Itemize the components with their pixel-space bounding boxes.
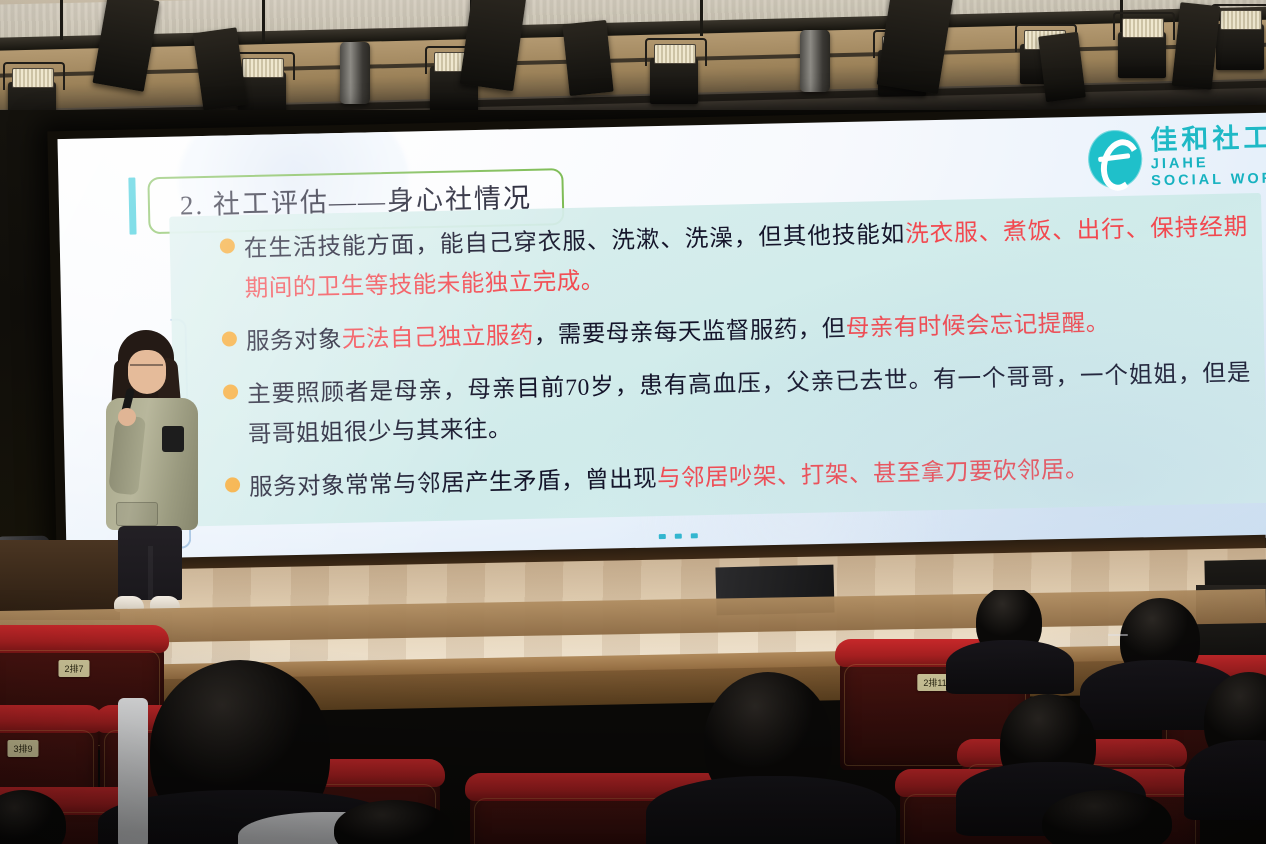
stage-light-fresnel [1216, 24, 1264, 70]
seat-tag: 3排9 [7, 740, 38, 757]
stage-light-housing [1038, 32, 1086, 102]
bullet-text-plain: ，需要母亲每天监督服药，但 [534, 316, 846, 349]
stage-light-profile-spot [340, 42, 370, 104]
stage-light-fresnel [650, 58, 698, 104]
logo-text-block: 佳和社工 JIAHE SOCIAL WORK [1150, 124, 1266, 188]
presenter-glasses-icon [130, 364, 163, 372]
bullet-text-plain: 服务对象常常与邻居产生矛盾，曾出现 [249, 466, 657, 501]
seat-tag: 2排7 [58, 660, 89, 677]
presenter-trousers [118, 526, 182, 600]
logo-name-en-line2: SOCIAL WORK [1151, 171, 1266, 188]
audience-shoulders [646, 776, 896, 844]
bullet-text: 在生活技能方面，能自己穿衣服、洗漱、洗澡，但其他技能如洗衣服、煮饭、出行、保持经… [219, 207, 1249, 309]
bullet-item: 主要照顾者是母亲，母亲目前70岁，患有高血压，父亲已去世。有一个哥哥，一个姐姐，… [223, 353, 1253, 455]
audience-shoulders [946, 640, 1074, 694]
stage-light-profile-spot [800, 30, 830, 92]
projection-screen: 佳和社工 JIAHE SOCIAL WORK 2. 社工评估——身心社情况 社 [57, 112, 1266, 564]
bullet-item: 在生活技能方面，能自己穿衣服、洗漱、洗澡，但其他技能如洗衣服、煮饭、出行、保持经… [219, 207, 1249, 309]
bullet-text: 主要照顾者是母亲，母亲目前70岁，患有高血压，父亲已去世。有一个哥哥，一个姐姐，… [223, 353, 1253, 455]
bullet-text-plain: 主要照顾者是母亲，母亲目前70岁，患有高血压，父亲已去世。有一个哥哥，一个姐姐，… [247, 360, 1251, 448]
logo-name-cn: 佳和社工 [1150, 124, 1266, 154]
organization-logo: 佳和社工 JIAHE SOCIAL WORK [1087, 124, 1266, 189]
bullet-item: 服务对象无法自己独立服药，需要母亲每天监督服药，但母亲有时候会忘记提醒。 [222, 300, 1251, 362]
stage-light-fresnel [1118, 32, 1166, 78]
bullet-text-highlight: 与邻居吵架、打架、甚至拿刀要砍邻居。 [657, 457, 1089, 492]
title-accent-bar [128, 177, 136, 234]
lamp-hanger [60, 0, 63, 40]
projection-screen-frame: 佳和社工 JIAHE SOCIAL WORK 2. 社工评估——身心社情况 社 [47, 105, 1266, 575]
bullet-text-plain: 在生活技能方面，能自己穿衣服、洗漱、洗澡，但其他技能如 [244, 222, 906, 262]
jiahe-logo-mark-icon [1087, 129, 1142, 188]
lamp-hanger [262, 0, 265, 44]
pager-dot [691, 533, 698, 538]
slide-content-box: 在生活技能方面，能自己穿衣服、洗漱、洗澡，但其他技能如洗衣服、煮饭、出行、保持经… [169, 193, 1266, 527]
bullet-text-plain: 服务对象 [246, 327, 343, 355]
slide-pager-dots [659, 533, 698, 539]
presentation-photo-scene: 佳和社工 JIAHE SOCIAL WORK 2. 社工评估——身心社情况 社 [0, 0, 1266, 844]
bullet-text: 服务对象常常与邻居产生矛盾，曾出现与邻居吵架、打架、甚至拿刀要砍邻居。 [225, 446, 1254, 508]
bullet-item: 服务对象常常与邻居产生矛盾，曾出现与邻居吵架、打架、甚至拿刀要砍邻居。 [225, 446, 1254, 508]
pager-dot [659, 534, 666, 539]
presenter [104, 330, 199, 615]
presenter-jacket-pocket [116, 502, 158, 526]
presenter-face [128, 350, 166, 394]
stage-light-housing [562, 20, 613, 96]
bullet-list: 在生活技能方面，能自己穿衣服、洗漱、洗澡，但其他技能如洗衣服、煮饭、出行、保持经… [219, 207, 1253, 521]
bullet-text-highlight: 无法自己独立服药 [342, 323, 535, 353]
presenter-hand [118, 408, 136, 426]
audience-area: 2排7 2排11 3排1 4排13 3排9 4排11 6排15 6排17 [0, 590, 1266, 844]
bullet-text-highlight: 母亲有时候会忘记提醒。 [846, 310, 1111, 342]
glasses-icon [1108, 634, 1128, 636]
presenter-jacket-patch [162, 426, 184, 452]
audience-shirt [118, 698, 148, 844]
pager-dot [675, 534, 682, 539]
lamp-hanger [700, 0, 703, 36]
logo-name-en-line1: JIAHE [1151, 154, 1266, 171]
slide-body: 佳和社工 JIAHE SOCIAL WORK 2. 社工评估——身心社情况 社 [57, 112, 1266, 564]
bullet-text: 服务对象无法自己独立服药，需要母亲每天监督服药，但母亲有时候会忘记提醒。 [222, 300, 1251, 362]
